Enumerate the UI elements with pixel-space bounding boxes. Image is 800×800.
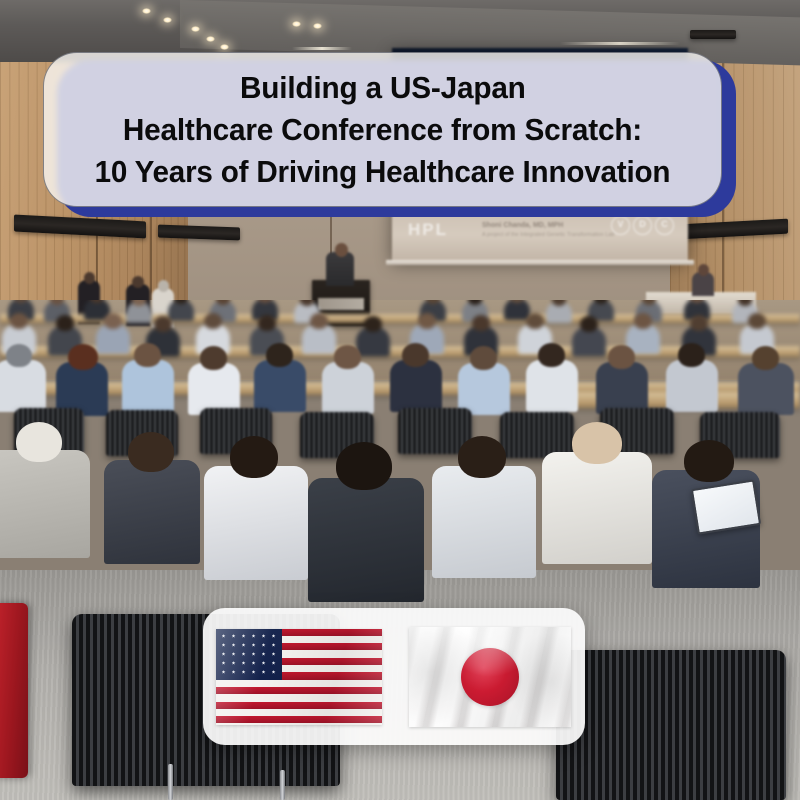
us-flag-canton	[216, 629, 282, 680]
attendee	[526, 360, 578, 412]
japan-flag-sun-disc	[461, 648, 519, 706]
attendee	[254, 360, 306, 412]
attendee-head	[402, 343, 429, 367]
attendee	[542, 452, 652, 564]
attendee	[432, 466, 536, 578]
stage-speaker-head	[335, 243, 348, 257]
attendee-head	[154, 316, 172, 332]
attendee	[390, 360, 442, 412]
attendee-head	[690, 315, 708, 331]
attendee-head	[200, 346, 227, 370]
ceiling-light-strip	[560, 42, 680, 45]
title-line-3: 10 Years of Driving Healthcare Innovatio…	[95, 156, 671, 187]
attendee-head	[10, 313, 28, 329]
screen-speaker-name: Shoni Chanda, MD, MPH	[482, 222, 563, 229]
attendee	[0, 450, 90, 558]
attendee-head	[752, 346, 779, 370]
ceiling-downlight	[292, 21, 301, 27]
attendee	[322, 362, 374, 414]
screen-frame-bar	[386, 260, 694, 265]
screen-brand-logo: HPL	[408, 220, 448, 240]
attendee-head	[470, 346, 497, 370]
attendee-head	[68, 344, 98, 370]
ceiling-downlight	[191, 26, 200, 32]
us-flag-stars	[219, 632, 279, 677]
attendee-head	[472, 315, 490, 331]
attendee	[0, 360, 46, 412]
attendee-head	[748, 313, 766, 329]
attendee-head	[230, 436, 278, 478]
attendee-head	[266, 343, 293, 367]
title-line-2: Healthcare Conference from Scratch:	[123, 114, 642, 145]
stage-speaker	[326, 252, 354, 286]
jp-flag-slot	[394, 608, 585, 745]
attendee-head	[364, 316, 382, 332]
attendee-head	[458, 436, 506, 478]
us-flag-slot	[203, 608, 394, 745]
title-card: Building a US-Japan Healthcare Conferenc…	[43, 52, 722, 207]
attendee-head	[678, 343, 705, 367]
standing-attendee-head	[132, 276, 144, 288]
attendee	[738, 363, 794, 415]
attendee-head	[16, 422, 62, 462]
united-states-flag	[216, 629, 382, 725]
attendee	[596, 362, 648, 414]
attendee	[308, 478, 424, 602]
ceiling-light-strip	[292, 47, 352, 50]
ceiling-downlight	[206, 36, 215, 42]
attendee	[204, 466, 308, 580]
attendee-head	[580, 316, 598, 332]
attendee-head	[538, 343, 565, 367]
logo-ring-icon: C	[655, 216, 674, 235]
logo-ring-icon: D	[633, 216, 652, 235]
attendee	[666, 360, 718, 412]
attendee-head	[56, 315, 74, 331]
attendee-head	[6, 344, 32, 367]
attendee	[458, 363, 510, 415]
attendee-head	[334, 345, 361, 369]
chair-leg	[168, 764, 173, 800]
title-line-1: Building a US-Japan	[240, 72, 526, 103]
attendee-head	[204, 313, 222, 329]
attendee-head	[134, 343, 161, 367]
attendee-head	[526, 313, 544, 329]
ceiling-vent	[690, 30, 736, 39]
attendee-head	[128, 432, 174, 472]
attendee-head	[572, 422, 622, 464]
attendee-head	[418, 313, 436, 329]
chair-leg	[280, 770, 285, 800]
flags-panel	[203, 608, 585, 745]
attendee-head	[258, 315, 276, 331]
foreground-chair	[556, 650, 786, 800]
ceiling-downlight	[163, 17, 172, 23]
attendee-head	[104, 313, 122, 329]
ceiling-downlight	[220, 44, 229, 50]
standing-attendee-head	[84, 272, 95, 284]
attendee	[122, 360, 174, 412]
japan-flag	[409, 627, 571, 727]
poster-canvas: U.S.-Japan Healthcare Connection Innovat…	[0, 0, 800, 800]
logo-ring-icon: V	[611, 216, 630, 235]
standing-attendee-head	[158, 280, 169, 292]
screen-speaker-affiliation: A project of the Integrated Genetic Tran…	[482, 232, 614, 238]
attendee-head	[608, 345, 635, 369]
attendee-head	[634, 313, 652, 329]
ceiling-downlight	[142, 8, 151, 14]
red-suitcase	[0, 603, 28, 778]
attendee-head	[684, 440, 734, 482]
attendee	[104, 460, 200, 564]
ceiling-downlight	[313, 23, 322, 29]
attendee-head	[336, 442, 392, 490]
screen-partner-logos: V D C	[611, 216, 674, 235]
head-table-person-head	[698, 264, 709, 276]
attendee-head	[310, 313, 328, 329]
